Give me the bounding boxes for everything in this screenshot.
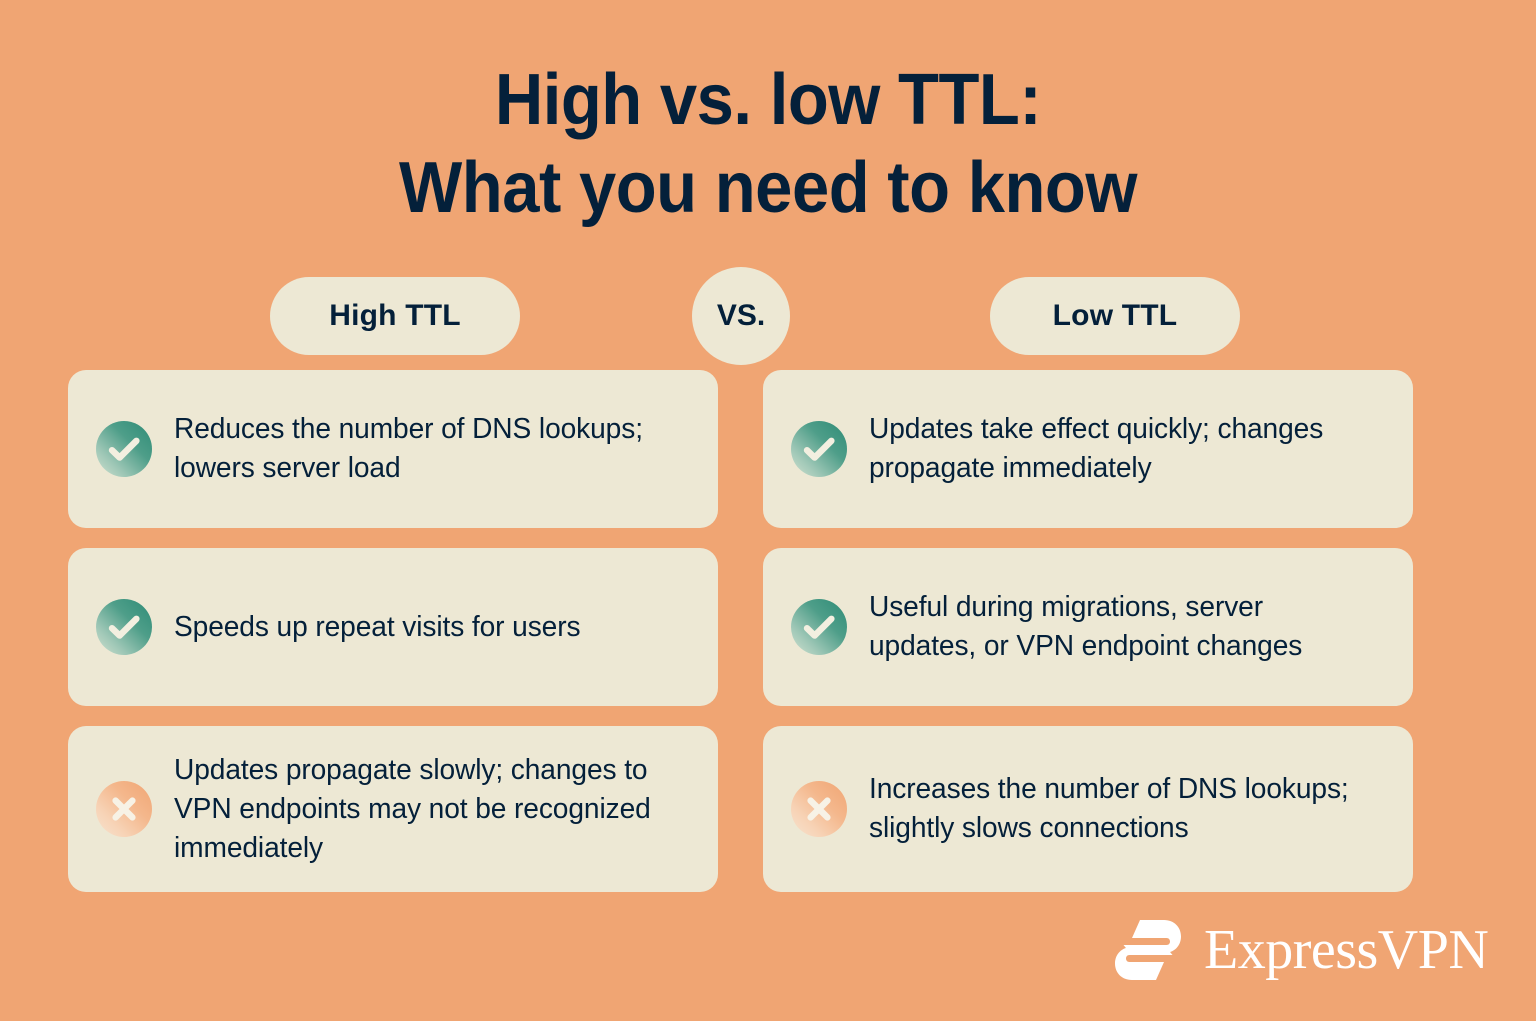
list-item-text: Reduces the number of DNS lookups; lower… [174,410,676,488]
list-item: Reduces the number of DNS lookups; lower… [68,370,718,528]
page-title-line-2: What you need to know [54,144,1482,232]
list-item: Useful during migrations, server updates… [763,548,1413,706]
expressvpn-logo: ExpressVPN [1110,912,1488,988]
column-low-ttl: Updates take effect quickly; changes pro… [763,370,1413,892]
header-pill-low-ttl-label: Low TTL [1053,299,1178,333]
expressvpn-e-icon [1110,912,1186,988]
header-divider-vs: VS. [692,267,790,365]
page-title-line-1: High vs. low TTL: [54,56,1482,144]
list-item: Speeds up repeat visits for users [68,548,718,706]
cross-icon [791,781,847,837]
header-pill-low-ttl: Low TTL [990,277,1240,355]
comparison-columns: Reduces the number of DNS lookups; lower… [68,370,1468,892]
header-divider-vs-label: VS. [717,299,765,333]
list-item-text: Useful during migrations, server updates… [869,588,1371,666]
check-icon [791,599,847,655]
check-icon [96,421,152,477]
page-title: High vs. low TTL: What you need to know [0,56,1536,232]
header-pill-high-ttl: High TTL [270,277,520,355]
list-item-text: Speeds up repeat visits for users [174,608,580,647]
list-item-text: Updates take effect quickly; changes pro… [869,410,1371,488]
comparison-header-row: High TTL VS. Low TTL [0,277,1536,355]
cross-icon [96,781,152,837]
list-item: Updates take effect quickly; changes pro… [763,370,1413,528]
list-item: Increases the number of DNS lookups; sli… [763,726,1413,892]
header-pill-high-ttl-label: High TTL [329,299,461,333]
check-icon [791,421,847,477]
list-item-text: Increases the number of DNS lookups; sli… [869,770,1371,848]
column-high-ttl: Reduces the number of DNS lookups; lower… [68,370,718,892]
expressvpn-wordmark: ExpressVPN [1204,922,1488,978]
check-icon [96,599,152,655]
list-item: Updates propagate slowly; changes to VPN… [68,726,718,892]
list-item-text: Updates propagate slowly; changes to VPN… [174,751,676,868]
